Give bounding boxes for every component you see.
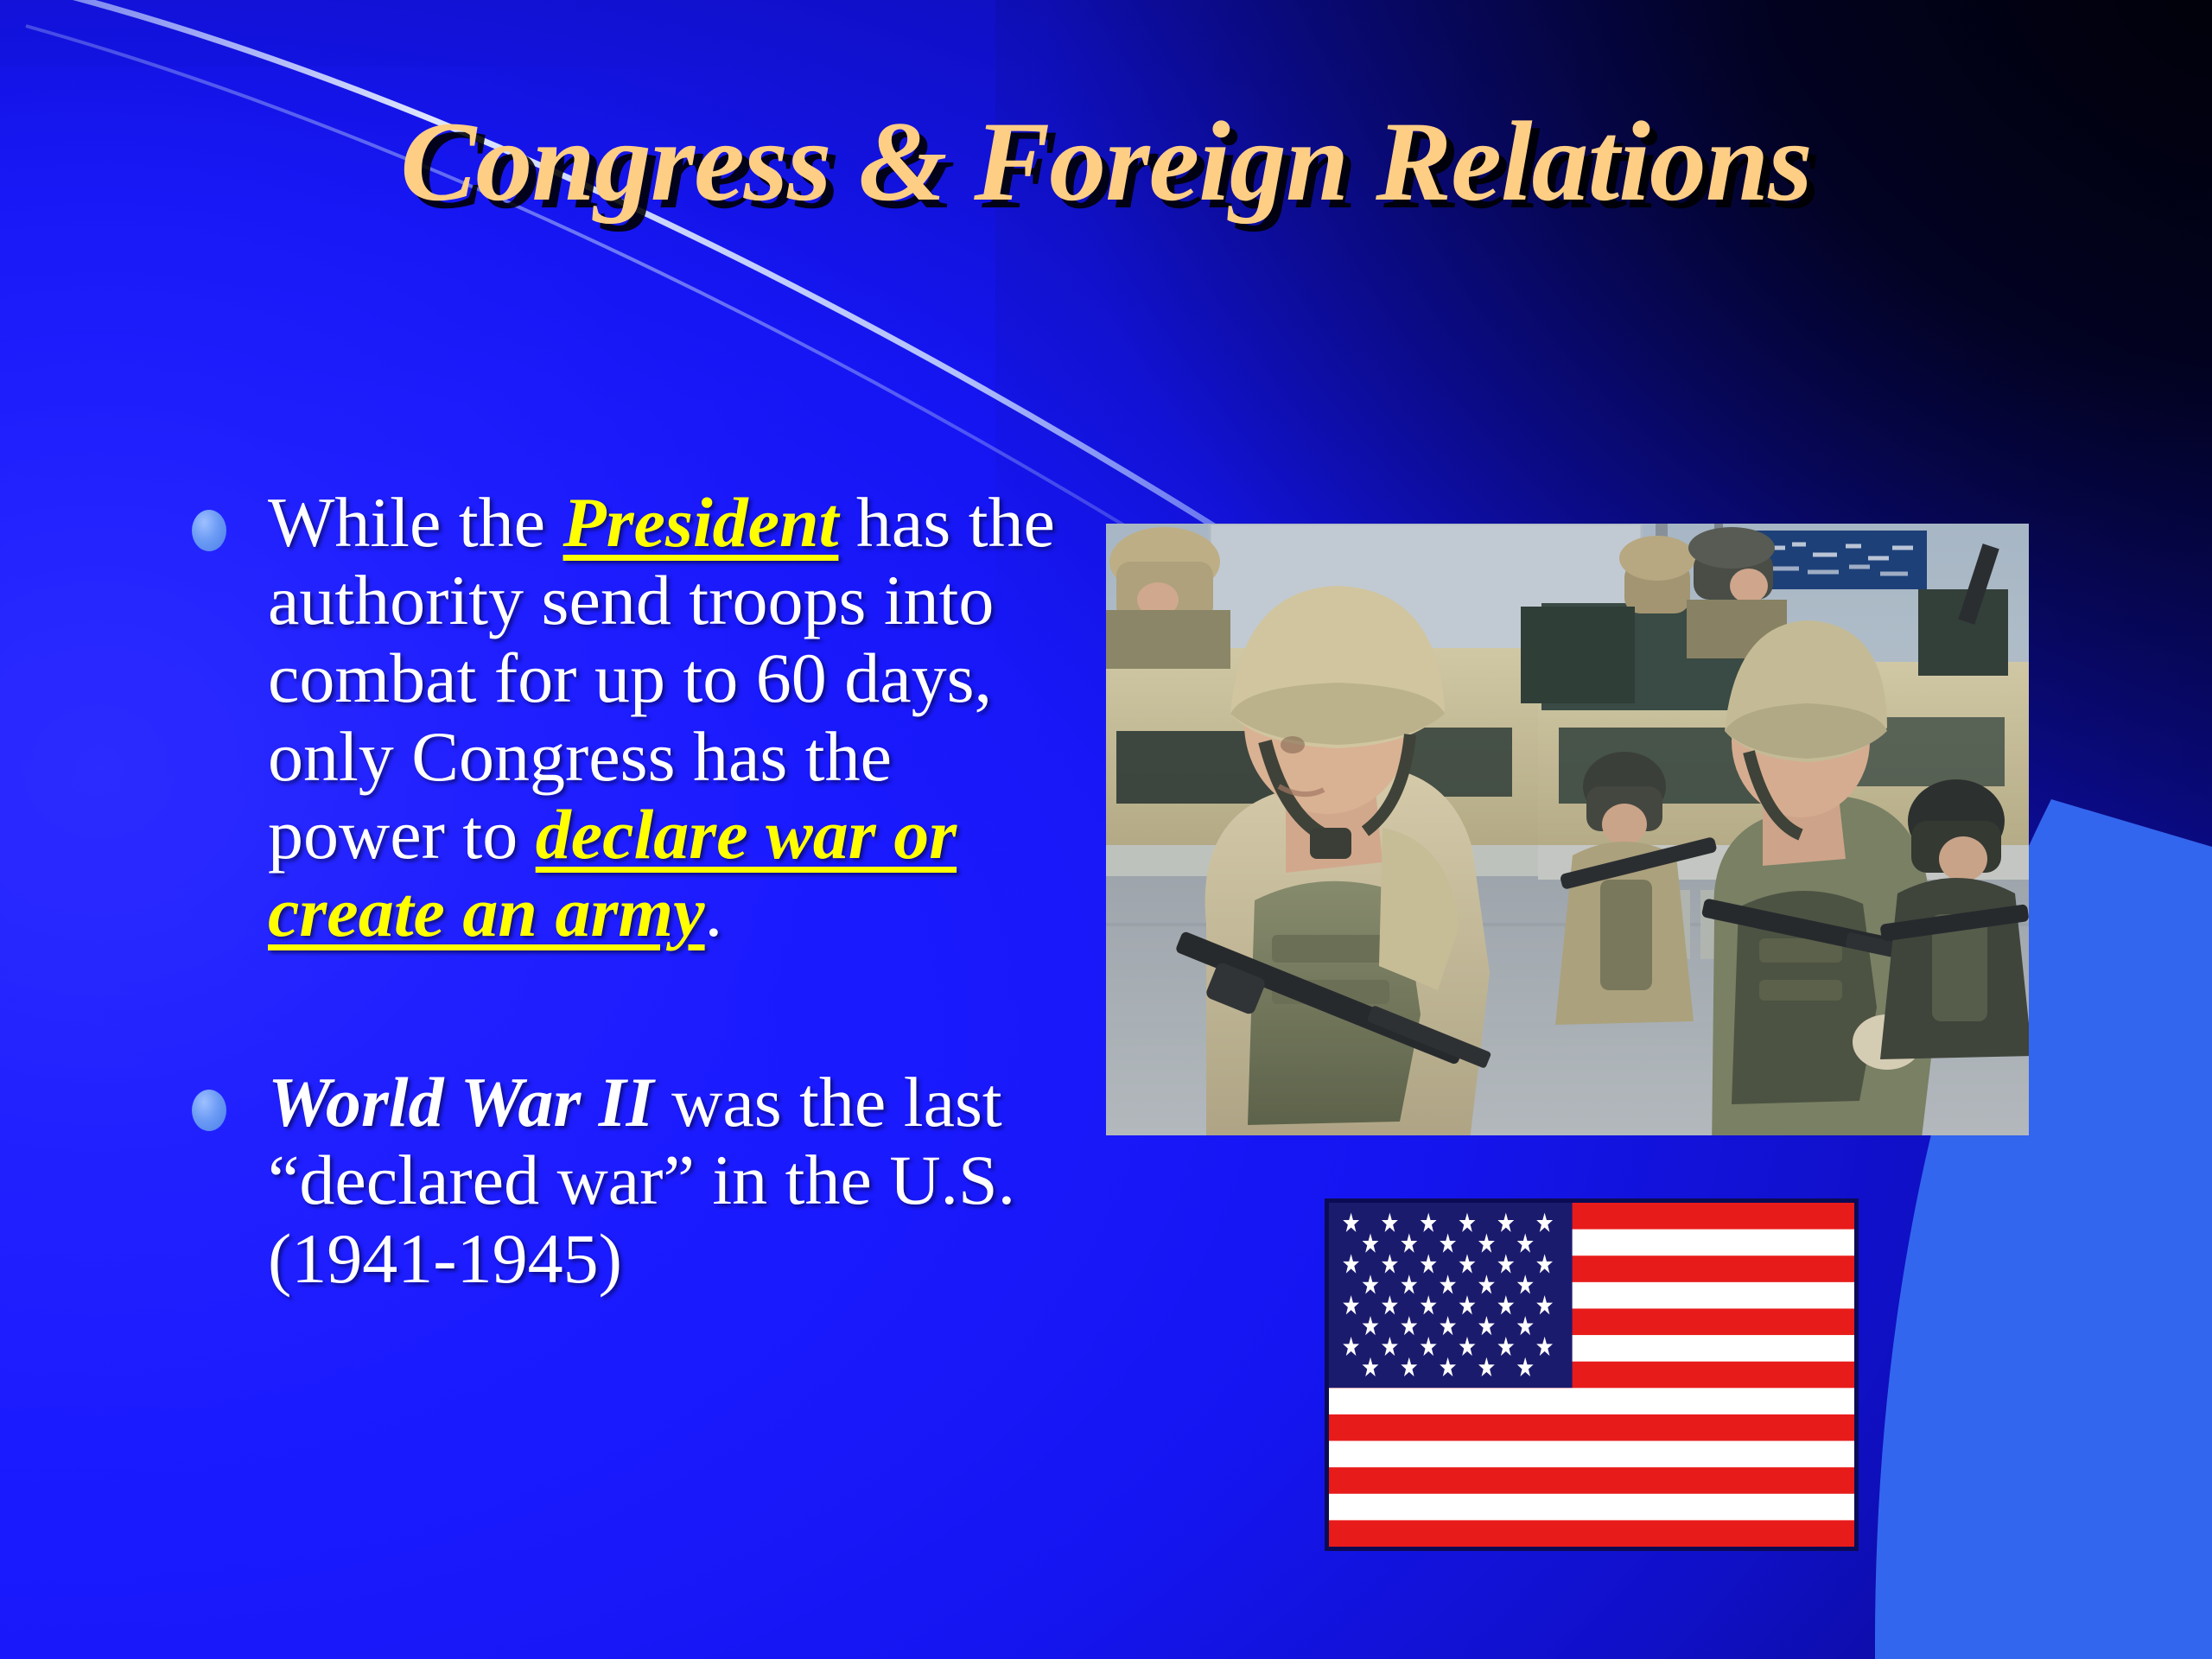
bullet-dot-icon [192, 1090, 226, 1131]
us-flag-image [1329, 1203, 1854, 1547]
presentation-slide: Congress & Foreign Relations While the P… [0, 0, 2212, 1659]
bullet-text-world-war-two: World War II was the last “declared war”… [268, 1064, 1063, 1298]
bullet-segment-bold-wwii: World War II [268, 1063, 654, 1141]
bullet-segment-plain: While the [268, 483, 563, 562]
bullet-item-world-war-two: World War II was the last “declared war”… [0, 1064, 1097, 1298]
bullet-segment-highlight-president: President [563, 483, 839, 562]
slide-title: Congress & Foreign Relations [0, 102, 2212, 220]
bullet-text-war-powers: While the President has the authority se… [268, 484, 1063, 951]
slide-body: While the President has the authority se… [0, 484, 1097, 1298]
soldiers-photo [1106, 524, 2029, 1135]
bullet-segment-period: . [705, 873, 723, 951]
bullet-dot-icon [192, 510, 226, 551]
bullet-item-war-powers: While the President has the authority se… [0, 484, 1097, 951]
